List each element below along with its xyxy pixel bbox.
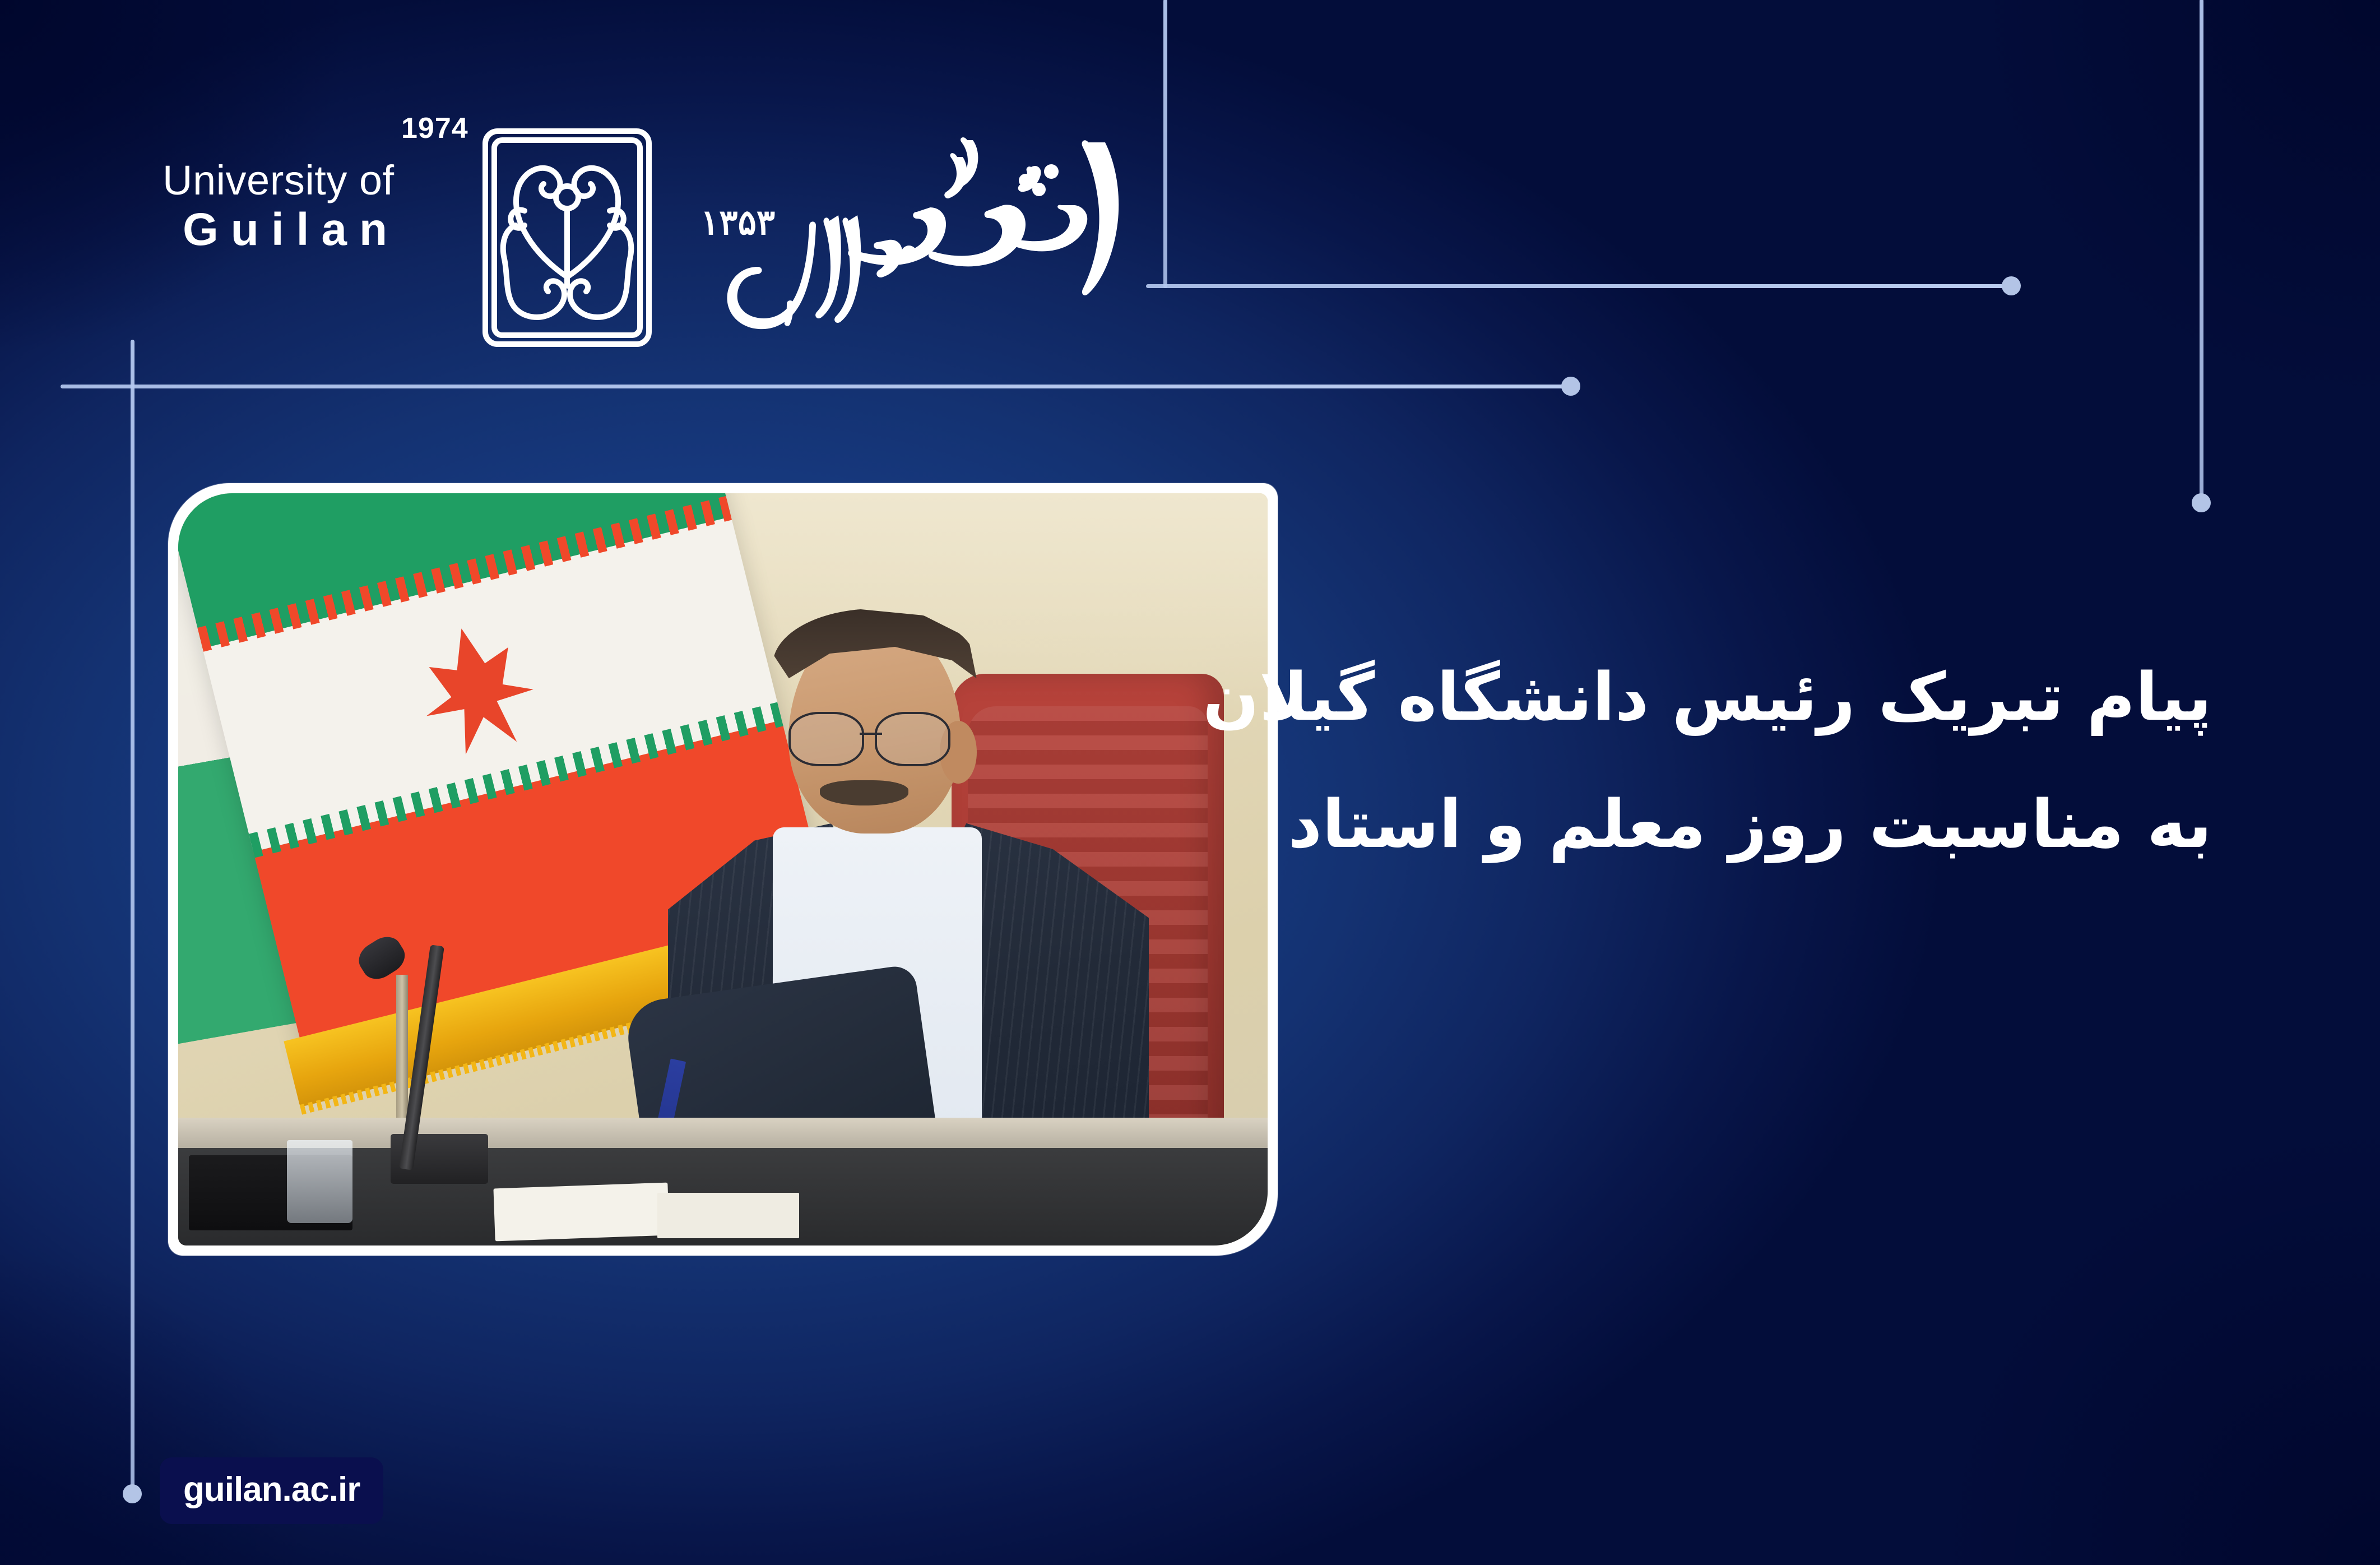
decor-horizontal-line-top-right bbox=[1146, 284, 2009, 288]
headline-line-2: به مناسبت روز معلم و استاد bbox=[1226, 761, 2212, 888]
decor-dot-left-horizontal-end bbox=[1561, 377, 1580, 396]
headline-line-1: پیام تبریک رئیس دانشگاه گیلان bbox=[1226, 633, 2212, 761]
decor-vertical-line-top-right bbox=[1163, 0, 1167, 288]
decor-vertical-line-right bbox=[2200, 0, 2203, 498]
notepad bbox=[657, 1193, 799, 1238]
decor-dot-right bbox=[2192, 493, 2211, 512]
headline-block: پیام تبریک رئیس دانشگاه گیلان به مناسبت … bbox=[1226, 633, 2212, 887]
logo-guilan-word: Guilan bbox=[163, 201, 476, 259]
drinking-glass bbox=[287, 1140, 352, 1223]
promotional-banner: 1974 University of Guilan bbox=[0, 0, 2380, 1565]
decor-dot-top-right bbox=[2002, 276, 2021, 295]
desk-microphone-icon bbox=[342, 944, 516, 1170]
mustache bbox=[820, 780, 909, 805]
eyeglasses-icon bbox=[788, 712, 950, 762]
decor-dot-left-bottom bbox=[123, 1484, 142, 1503]
guilan-butterfly-emblem-icon bbox=[477, 126, 657, 350]
photo-frame bbox=[168, 483, 1278, 1256]
website-url-badge[interactable]: guilan.ac.ir bbox=[160, 1457, 383, 1524]
paper-sheet bbox=[493, 1182, 669, 1241]
logo-english-text: 1974 University of Guilan bbox=[163, 160, 476, 259]
logo-university-word: University of bbox=[163, 160, 476, 201]
decor-horizontal-line-left bbox=[61, 385, 1568, 388]
decor-vertical-line-left bbox=[131, 340, 134, 1495]
logo-year-persian: ۱۳۵۳ bbox=[700, 202, 775, 243]
president-photo bbox=[178, 493, 1268, 1245]
logo-year-english: 1974 bbox=[401, 112, 468, 145]
